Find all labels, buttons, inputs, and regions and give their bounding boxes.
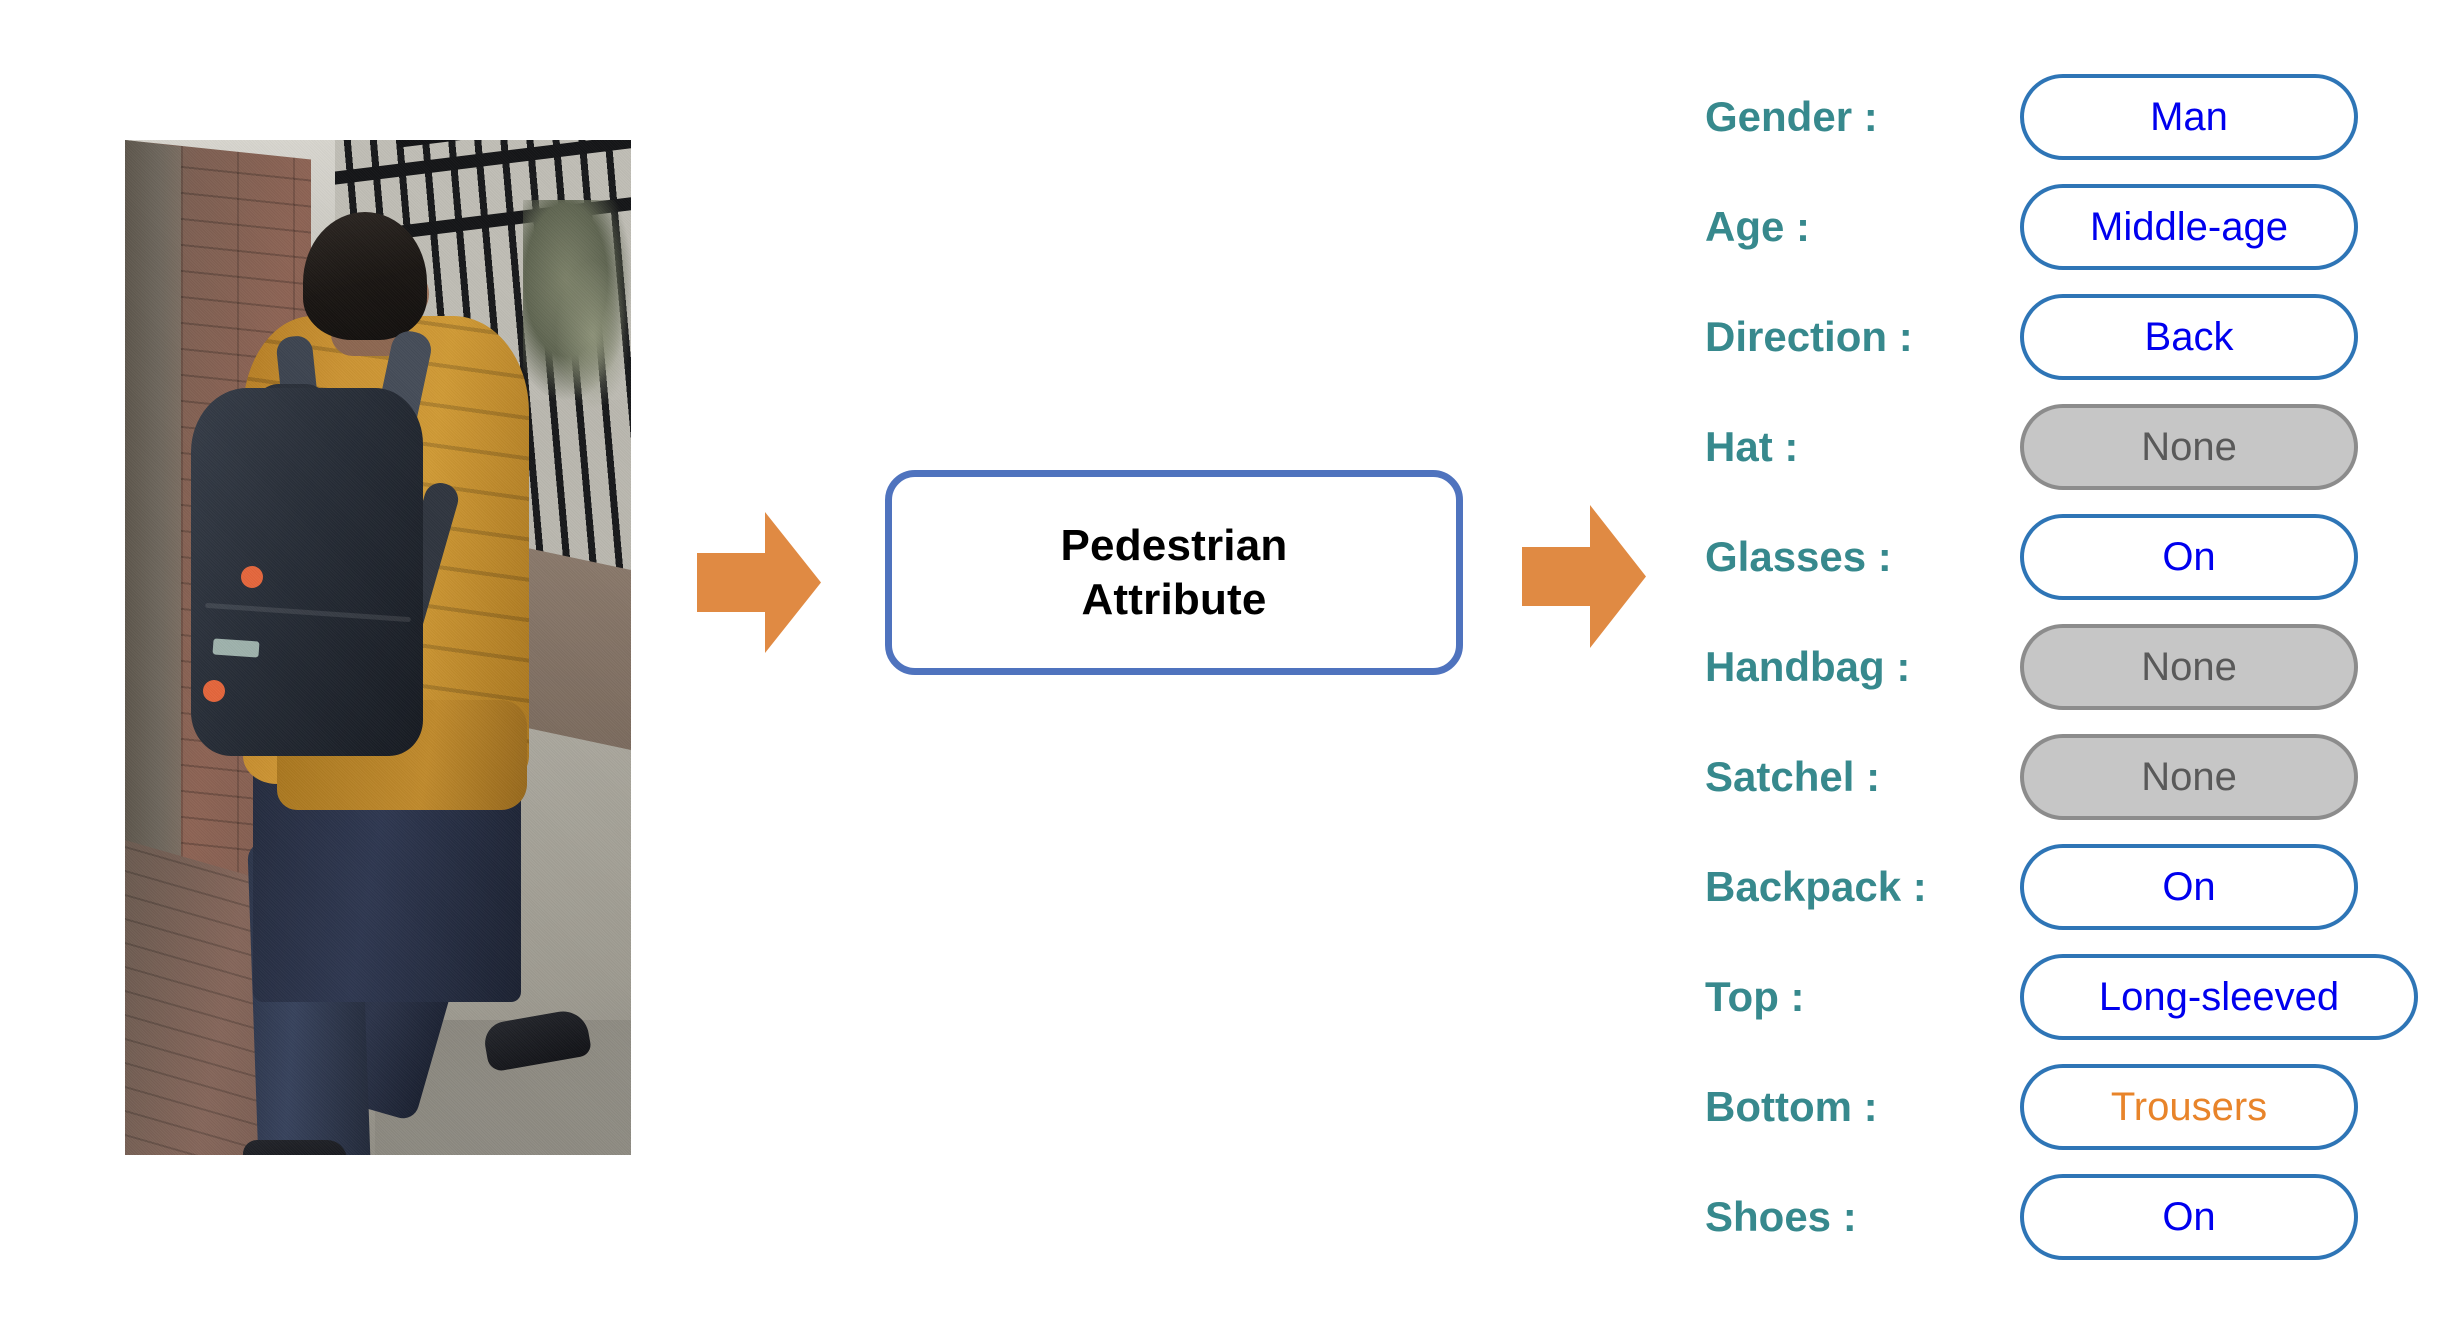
attribute-row: Age :Middle-age: [1705, 172, 2435, 282]
input-right-arrow-icon: [697, 512, 821, 653]
attribute-label: Satchel :: [1705, 753, 1880, 801]
attribute-label: Shoes :: [1705, 1193, 1857, 1241]
photo-person-shoe-left: [243, 1140, 347, 1155]
attribute-row: Glasses :On: [1705, 502, 2435, 612]
attribute-value-pill[interactable]: On: [2020, 514, 2358, 600]
attribute-label: Backpack :: [1705, 863, 1927, 911]
attribute-value-pill[interactable]: Middle-age: [2020, 184, 2358, 270]
process-box-title-line2: Attribute: [1081, 573, 1266, 627]
attribute-label: Bottom :: [1705, 1083, 1878, 1131]
attribute-row: Handbag :None: [1705, 612, 2435, 722]
photo-backpack-buckle-lower: [203, 680, 225, 702]
attribute-value-pill[interactable]: None: [2020, 734, 2358, 820]
attribute-label: Handbag :: [1705, 643, 1910, 691]
photo-person-head: [303, 212, 427, 340]
attribute-value-pill[interactable]: Long-sleeved: [2020, 954, 2418, 1040]
process-box-title-line1: Pedestrian: [1061, 519, 1288, 573]
attribute-row: Hat :None: [1705, 392, 2435, 502]
attribute-value-pill[interactable]: On: [2020, 1174, 2358, 1260]
attribute-row: Satchel :None: [1705, 722, 2435, 832]
figure-canvas: Pedestrian Attribute Gender :ManAge :Mid…: [0, 0, 2444, 1344]
attribute-label: Direction :: [1705, 313, 1913, 361]
attribute-row: Backpack :On: [1705, 832, 2435, 942]
attribute-value-pill[interactable]: None: [2020, 404, 2358, 490]
attribute-row: Direction :Back: [1705, 282, 2435, 392]
attribute-row: Shoes :On: [1705, 1162, 2435, 1272]
photo-foliage-secondary: [555, 260, 631, 410]
attribute-value-pill[interactable]: Man: [2020, 74, 2358, 160]
attribute-label: Top :: [1705, 973, 1805, 1021]
attribute-value-pill[interactable]: Trousers: [2020, 1064, 2358, 1150]
attribute-label: Gender :: [1705, 93, 1878, 141]
attribute-label: Hat :: [1705, 423, 1798, 471]
attribute-row: Gender :Man: [1705, 62, 2435, 172]
photo-backpack-label: [212, 638, 259, 657]
attribute-row: Bottom :Trousers: [1705, 1052, 2435, 1162]
attribute-value-pill[interactable]: On: [2020, 844, 2358, 930]
photo-backpack-buckle-upper: [241, 566, 263, 588]
photo-backpack: [191, 388, 423, 756]
process-box: Pedestrian Attribute: [885, 470, 1463, 675]
attribute-row: Top :Long-sleeved: [1705, 942, 2435, 1052]
attribute-list: Gender :ManAge :Middle-ageDirection :Bac…: [1705, 62, 2435, 1272]
attribute-value-pill[interactable]: None: [2020, 624, 2358, 710]
attribute-value-pill[interactable]: Back: [2020, 294, 2358, 380]
output-right-arrow-icon: [1522, 505, 1646, 648]
attribute-label: Glasses :: [1705, 533, 1892, 581]
attribute-label: Age :: [1705, 203, 1810, 251]
pedestrian-input-photo: [125, 140, 631, 1155]
